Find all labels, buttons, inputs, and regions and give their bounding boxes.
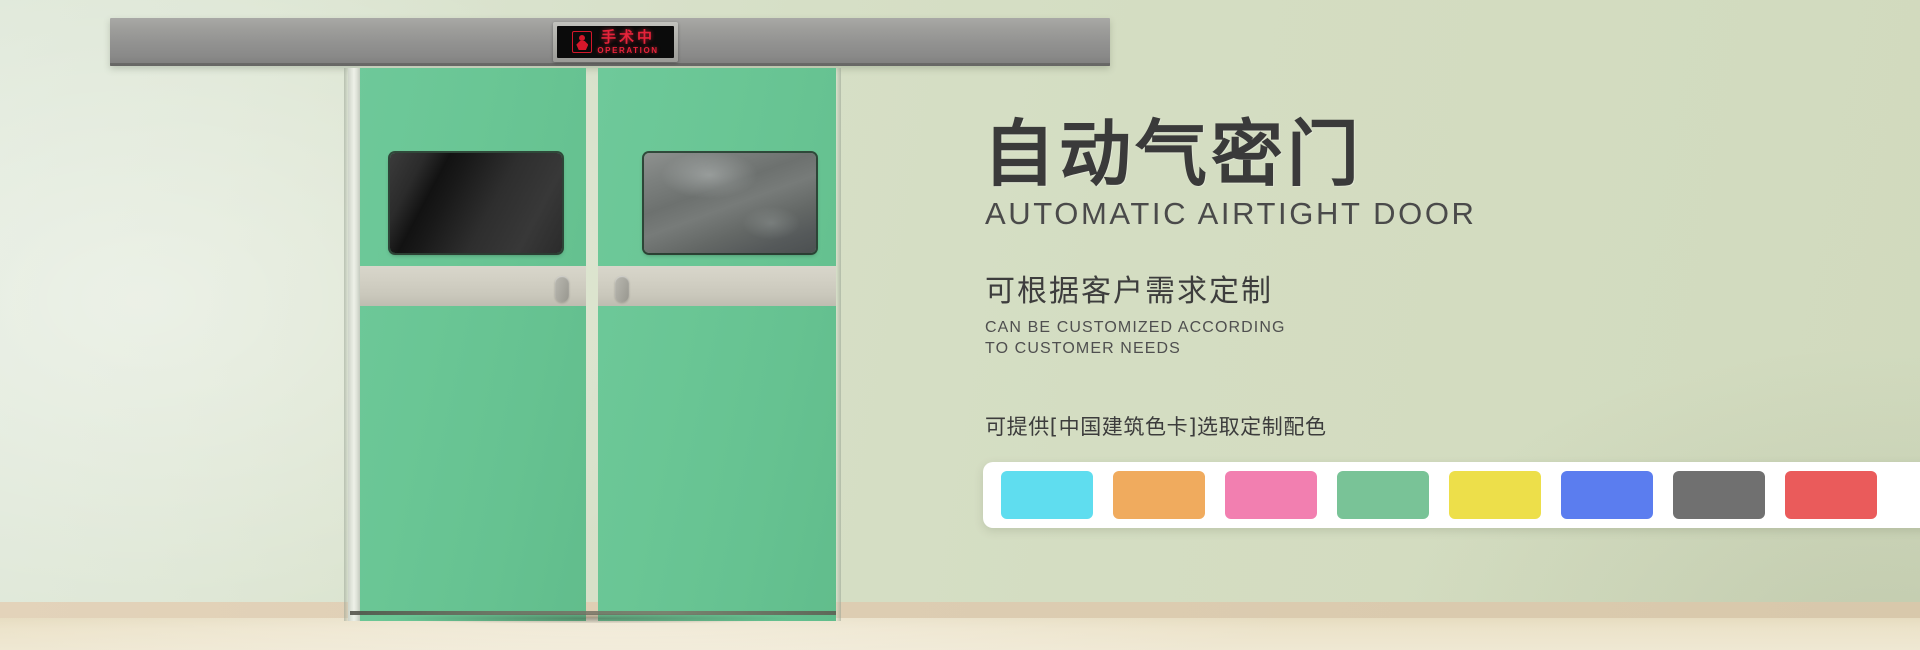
operation-sign-label-en: OPERATION: [597, 47, 658, 55]
page-title-en: AUTOMATIC AIRTIGHT DOOR: [985, 198, 1913, 231]
door-view-window-left: [390, 153, 562, 253]
copy-block: 自动气密门 AUTOMATIC AIRTIGHT DOOR 可根据客户需求定制 …: [983, 118, 1913, 440]
subtitle-en: CAN BE CUSTOMIZED ACCORDING TO CUSTOMER …: [985, 317, 1913, 359]
color-card-caption: 可提供[中国建筑色卡]选取定制配色: [985, 415, 1913, 440]
airtight-door-assembly: 手术中 OPERATION: [110, 18, 1130, 604]
operation-sign-texts: 手术中 OPERATION: [597, 30, 658, 55]
color-card-strip: [983, 462, 1920, 528]
color-swatch-cyan[interactable]: [1001, 471, 1093, 519]
operation-sign-screen: 手术中 OPERATION: [557, 26, 674, 58]
color-swatch-orange[interactable]: [1113, 471, 1205, 519]
color-swatch-green[interactable]: [1337, 471, 1429, 519]
door-view-window-right: [644, 153, 816, 253]
door-center-seam: [348, 68, 360, 621]
product-banner: 手术中 OPERATION 自动气密门 AUTOMATIC AIRTI: [0, 0, 1920, 650]
door-leaf-left: [348, 68, 586, 621]
door-handle-right[interactable]: [615, 276, 629, 302]
color-swatch-yellow[interactable]: [1449, 471, 1541, 519]
operation-sign-label-cn: 手术中: [601, 30, 655, 45]
door-impact-band-right: [598, 266, 836, 306]
floor-reflection: [0, 618, 1920, 650]
door-impact-band-left: [348, 266, 586, 306]
operation-in-progress-icon: [572, 31, 592, 53]
page-title-cn: 自动气密门: [983, 118, 1913, 190]
door-handle-left[interactable]: [555, 276, 569, 302]
operation-status-sign: 手术中 OPERATION: [553, 22, 678, 62]
door-frame-edge-right: [836, 68, 841, 621]
subtitle-en-line-1: CAN BE CUSTOMIZED ACCORDING: [985, 317, 1913, 338]
subtitle-en-line-2: TO CUSTOMER NEEDS: [985, 338, 1913, 359]
door-leaf-right: [598, 68, 836, 621]
subtitle-cn: 可根据客户需求定制: [985, 275, 1913, 308]
color-swatch-red[interactable]: [1785, 471, 1877, 519]
color-swatch-pink[interactable]: [1225, 471, 1317, 519]
door-floor-shadow: [342, 614, 844, 623]
color-swatch-blue[interactable]: [1561, 471, 1653, 519]
color-swatch-gray[interactable]: [1673, 471, 1765, 519]
door-leaves: [348, 68, 836, 621]
